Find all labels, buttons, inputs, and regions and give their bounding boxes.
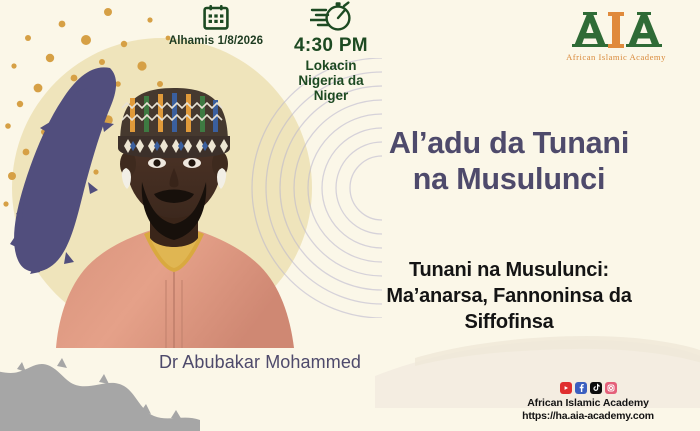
title-line-2: na Musulunci bbox=[330, 162, 688, 198]
facebook-icon[interactable] bbox=[575, 382, 587, 394]
instagram-icon[interactable] bbox=[605, 382, 617, 394]
footer-website[interactable]: https://ha.aia-academy.com bbox=[488, 410, 688, 424]
event-date-text: Alhamis 1/8/2026 bbox=[150, 35, 282, 47]
event-poster: Alhamis 1/8/2026 4:30 PM Lokacin Nigeria… bbox=[0, 0, 700, 431]
title-line-1: Al’adu da Tunani bbox=[330, 126, 688, 162]
tiktok-icon[interactable] bbox=[590, 382, 602, 394]
subtitle-line-2: Ma’anarsa, Fannoninsa da bbox=[330, 283, 688, 309]
social-links bbox=[488, 382, 688, 394]
speaker-portrait bbox=[50, 48, 298, 360]
aia-logo-icon bbox=[570, 10, 662, 50]
event-time-block: 4:30 PM Lokacin Nigeria da Niger bbox=[276, 0, 386, 103]
brand-logo: African Islamic Academy bbox=[550, 10, 682, 62]
subtitle-line-3: Siffofinsa bbox=[330, 309, 688, 335]
timezone-line-1: Lokacin bbox=[276, 58, 386, 73]
footer-organization: African Islamic Academy bbox=[488, 397, 688, 411]
calendar-icon bbox=[203, 4, 229, 30]
speaker-name: Dr Abubakar Mohammed bbox=[110, 352, 410, 373]
page-title: Al’adu da Tunani na Musulunci bbox=[330, 126, 688, 198]
event-time-text: 4:30 PM bbox=[276, 36, 386, 57]
page-subtitle: Tunani na Musulunci: Ma’anarsa, Fannonin… bbox=[330, 257, 688, 335]
footer: African Islamic Academy https://ha.aia-a… bbox=[488, 382, 688, 424]
stopwatch-icon bbox=[310, 0, 352, 34]
subtitle-line-1: Tunani na Musulunci: bbox=[330, 257, 688, 283]
timezone-line-2: Nigeria da bbox=[276, 73, 386, 88]
logo-subtitle: African Islamic Academy bbox=[550, 52, 682, 62]
timezone-line-3: Niger bbox=[276, 88, 386, 103]
youtube-icon[interactable] bbox=[560, 382, 572, 394]
event-date-block: Alhamis 1/8/2026 bbox=[150, 4, 282, 47]
